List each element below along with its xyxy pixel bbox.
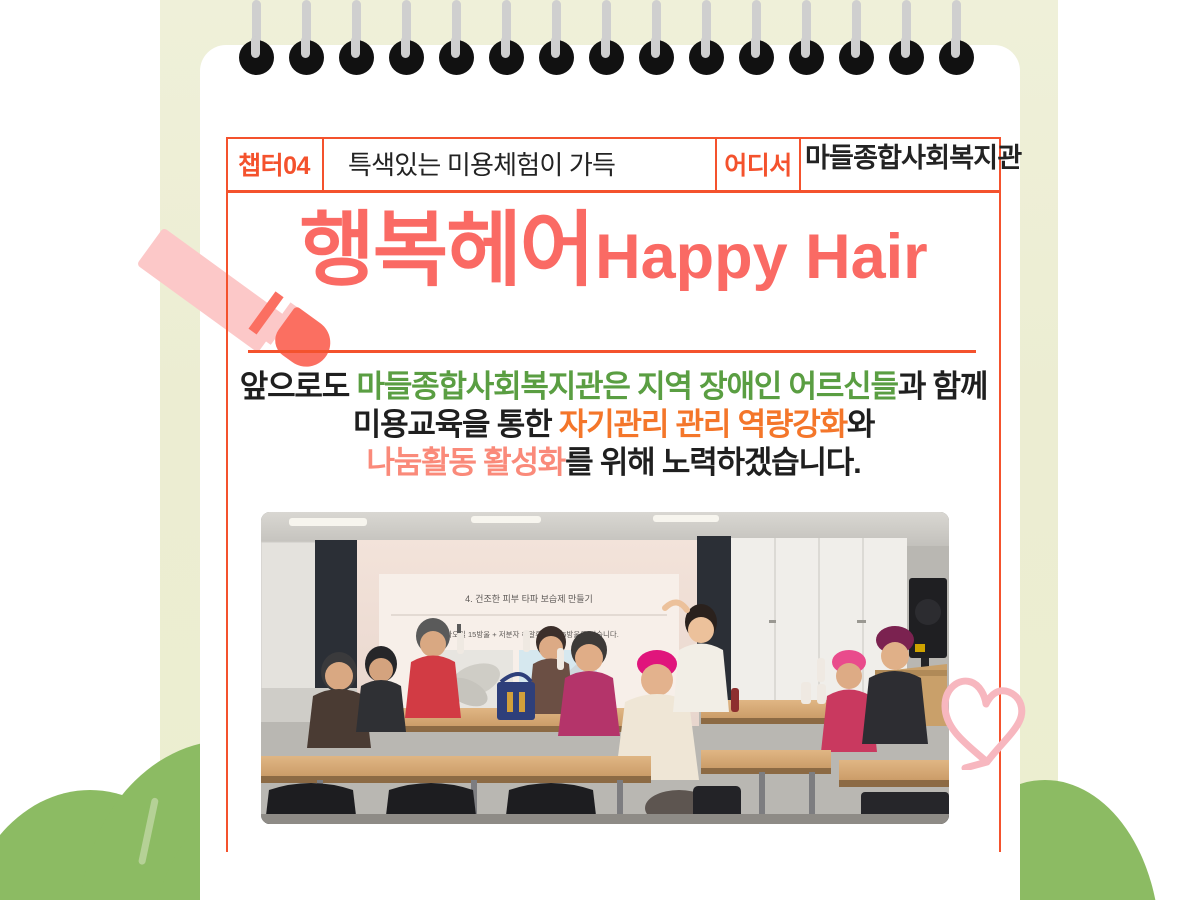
place-cell: 마들종합사회복지관 bbox=[801, 137, 1001, 190]
header-underline bbox=[226, 190, 1001, 193]
photo-illustration: 4. 건조한 피부 타파 보습제 만들기 3. 호호바오일 15방울 + 저분자… bbox=[261, 512, 949, 824]
place-name: 마들종합사회복지관 bbox=[805, 136, 1021, 175]
title-divider bbox=[248, 350, 976, 353]
paragraph-segment: 를 위해 노력하겠습니다. bbox=[565, 445, 860, 480]
page-title: 행복헤어 Happy Hair bbox=[299, 210, 927, 292]
paragraph-segment: 마들종합사회복지관은 지역 장애인 어르신들 bbox=[357, 369, 898, 404]
paragraph-line-3: 나눔활동 활성화를 위해 노력하겠습니다. bbox=[226, 444, 1001, 482]
paragraph-segment: 앞으로도 bbox=[240, 369, 357, 404]
where-label-cell: 어디서 bbox=[717, 137, 801, 190]
title-korean: 행복헤어 bbox=[299, 210, 593, 292]
hand-drawn-heart-icon bbox=[935, 650, 1035, 770]
where-label: 어디서 bbox=[724, 146, 792, 182]
spiral-binding bbox=[200, 0, 1020, 110]
chapter-cell: 챕터04 bbox=[226, 137, 324, 190]
paragraph-line-1: 앞으로도 마들종합사회복지관은 지역 장애인 어르신들과 함께 bbox=[226, 368, 1001, 406]
paragraph-segment: 미용교육을 통한 bbox=[353, 407, 559, 442]
poster-canvas: 챕터04 특색있는 미용체험이 가득 어디서 마들종합사회복지관 행복헤어 Ha… bbox=[0, 0, 1200, 900]
paragraph-segment: 와 bbox=[847, 407, 874, 442]
header-row: 챕터04 특색있는 미용체험이 가득 어디서 마들종합사회복지관 bbox=[226, 137, 1001, 190]
screen-title-text: 4. 건조한 피부 타파 보습제 만들기 bbox=[465, 594, 593, 604]
paragraph-segment: 과 함께 bbox=[898, 369, 987, 404]
chapter-label: 챕터04 bbox=[238, 146, 310, 182]
description-paragraph: 앞으로도 마들종합사회복지관은 지역 장애인 어르신들과 함께 미용교육을 통한… bbox=[226, 368, 1001, 481]
paragraph-segment: 나눔활동 활성화 bbox=[366, 445, 565, 480]
title-english: Happy Hair bbox=[595, 226, 928, 289]
paragraph-line-2: 미용교육을 통한 자기관리 관리 역량강화와 bbox=[226, 406, 1001, 444]
subtitle-text: 특색있는 미용체험이 가득 bbox=[348, 145, 615, 182]
subtitle-cell: 특색있는 미용체험이 가득 bbox=[324, 137, 717, 190]
title-block: 행복헤어 Happy Hair bbox=[226, 210, 1001, 292]
event-photo: 4. 건조한 피부 타파 보습제 만들기 3. 호호바오일 15방울 + 저분자… bbox=[261, 512, 949, 824]
paragraph-segment: 자기관리 관리 역량강화 bbox=[559, 407, 847, 442]
